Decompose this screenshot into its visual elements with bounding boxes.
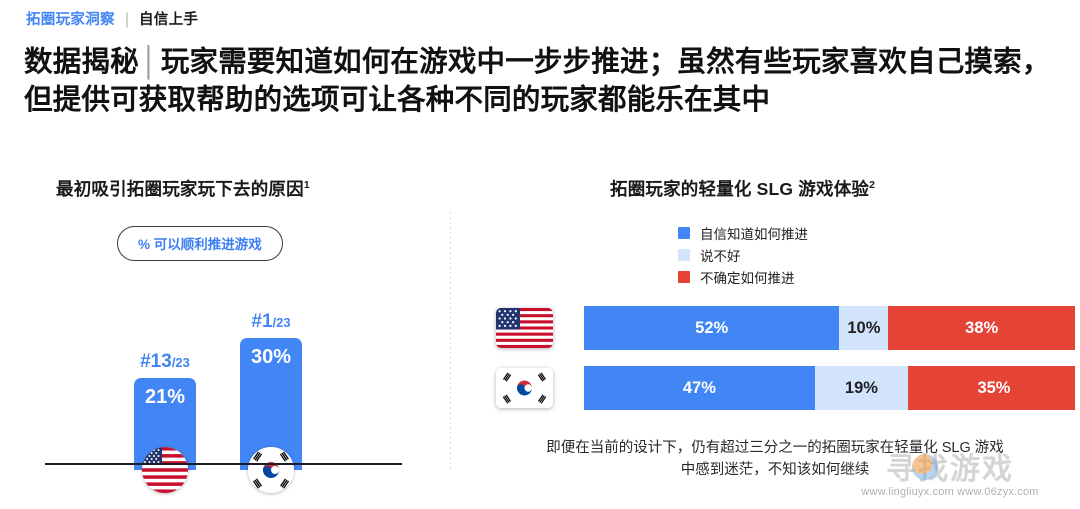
right-chart-note: 即便在当前的设计下，仍有超过三分之一的拓圈玩家在轻量化 SLG 游戏中感到迷茫，…: [540, 438, 1010, 482]
segment-label-us-confident: 52%: [695, 319, 728, 338]
left-chart-panel: 最初吸引拓圈玩家玩下去的原因1 % 可以顺利推进游戏 #13/23 21%: [0, 0, 450, 509]
right-chart-legend: 自信知道如何推进 说不好 不确定如何推进: [678, 222, 808, 288]
left-chart-title-text: 最初吸引拓圈玩家玩下去的原因: [56, 179, 304, 199]
bar-rank-value-kr: #1: [251, 311, 272, 332]
bar-rank-value-us: #13: [140, 351, 172, 372]
bar-rank-kr: #1/23: [240, 312, 302, 331]
us-flag-icon: [142, 447, 188, 493]
segment-kr-unsure[interactable]: 19%: [815, 366, 908, 410]
bar-rank-denominator-us: /23: [172, 355, 190, 370]
legend-swatch-uncertain: [678, 271, 690, 283]
segment-us-confident[interactable]: 52%: [584, 306, 839, 350]
bar-value-us: 21%: [134, 386, 196, 409]
stacked-bar-us[interactable]: 52% 10% 38%: [584, 306, 1075, 350]
left-chart-metric-pill: % 可以顺利推进游戏: [117, 226, 283, 261]
left-chart-title: 最初吸引拓圈玩家玩下去的原因1: [56, 176, 310, 201]
stacked-row-kr: 47% 19% 35%: [450, 366, 1080, 410]
left-chart-plot-area: #13/23 21%: [0, 280, 450, 470]
bar-rank-denominator-kr: /23: [273, 315, 291, 330]
segment-kr-confident[interactable]: 47%: [584, 366, 815, 410]
right-chart-title-text: 拓圈玩家的轻量化 SLG 游戏体验: [610, 179, 869, 199]
stacked-row-us: 52% 10% 38%: [450, 306, 1080, 350]
segment-label-kr-unsure: 19%: [845, 379, 878, 398]
right-chart-plot-area: 52% 10% 38%: [450, 306, 1080, 426]
segment-kr-uncertain[interactable]: 35%: [908, 366, 1075, 410]
segment-label-kr-uncertain: 35%: [977, 379, 1010, 398]
right-chart-panel: 拓圈玩家的轻量化 SLG 游戏体验2 自信知道如何推进 说不好 不确定如何推进: [450, 0, 1080, 509]
stacked-bar-kr[interactable]: 47% 19% 35%: [584, 366, 1075, 410]
slide-root: 拓圈玩家洞察 | 自信上手 数据揭秘│玩家需要知道如何在游戏中一步步推进；虽然有…: [0, 0, 1080, 509]
bar-kr[interactable]: 30%: [240, 338, 302, 470]
bar-value-kr: 30%: [240, 346, 302, 369]
bar-group-kr: #1/23 30%: [240, 312, 302, 470]
kr-flag-icon: [248, 447, 294, 493]
legend-label-uncertain: 不确定如何推进: [700, 267, 795, 287]
legend-label-unsure: 说不好: [700, 245, 741, 265]
us-flag-icon: [496, 308, 553, 348]
bar-us[interactable]: 21%: [134, 378, 196, 470]
right-chart-title-footnote: 2: [869, 179, 875, 191]
segment-us-uncertain[interactable]: 38%: [888, 306, 1075, 350]
bar-group-us: #13/23 21%: [134, 352, 196, 470]
segment-label-us-uncertain: 38%: [965, 319, 998, 338]
segment-label-us-unsure: 10%: [847, 319, 880, 338]
right-chart-title: 拓圈玩家的轻量化 SLG 游戏体验2: [610, 176, 875, 201]
segment-label-kr-confident: 47%: [683, 379, 716, 398]
left-chart-baseline: [45, 463, 402, 465]
left-chart-title-footnote: 1: [304, 179, 310, 191]
legend-swatch-confident: [678, 227, 690, 239]
legend-item-confident[interactable]: 自信知道如何推进: [678, 222, 808, 244]
legend-swatch-unsure: [678, 249, 690, 261]
legend-item-uncertain[interactable]: 不确定如何推进: [678, 266, 808, 288]
segment-us-unsure[interactable]: 10%: [839, 306, 888, 350]
legend-item-unsure[interactable]: 说不好: [678, 244, 808, 266]
legend-label-confident: 自信知道如何推进: [700, 223, 808, 243]
kr-flag-icon: [496, 368, 553, 408]
bar-rank-us: #13/23: [134, 352, 196, 371]
